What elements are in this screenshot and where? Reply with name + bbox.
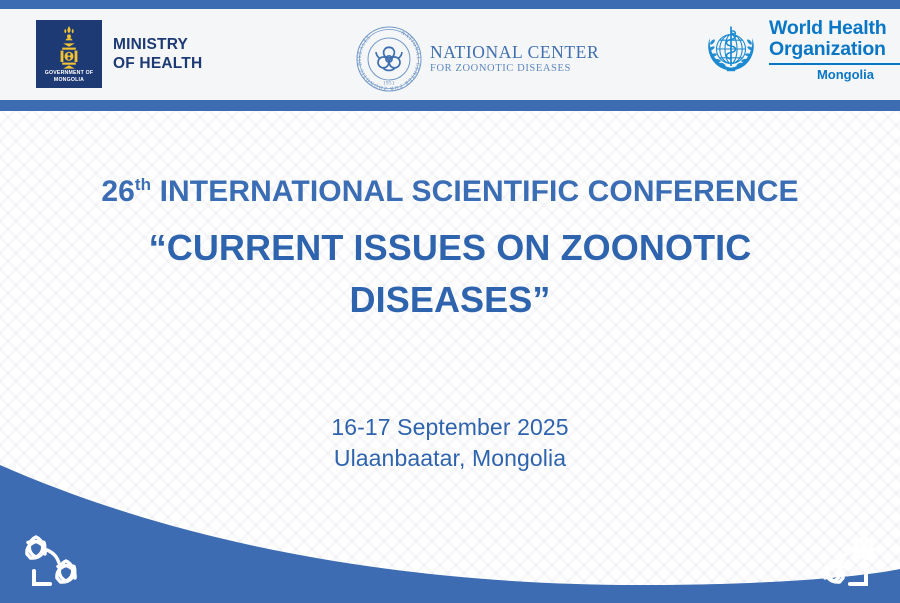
ministry-name: MINISTRY OF HEALTH — [113, 35, 202, 73]
edition-ordinal: th — [135, 175, 151, 194]
ministry-of-health-logo: GOVERNMENT OF MONGOLIA MINISTRY OF HEALT… — [36, 20, 202, 88]
ministry-name-line1: MINISTRY — [113, 35, 202, 54]
biohazard-seal-icon: NATIONAL CENTER FOR ZOONOTIC DISEASES 19… — [352, 22, 426, 96]
national-center-name: NATIONAL CENTER FOR ZOONOTIC DISEASES — [430, 42, 599, 76]
conference-theme-line1: “CURRENT ISSUES ON ZOONOTIC — [0, 222, 900, 274]
top-accent-bar — [0, 0, 900, 9]
ministry-name-line2: OF HEALTH — [113, 54, 202, 73]
conference-edition-line: 26th INTERNATIONAL SCIENTIFIC CONFERENCE — [0, 172, 900, 212]
national-center-name-line1: NATIONAL CENTER — [430, 42, 599, 62]
state-emblem-caption: GOVERNMENT OF MONGOLIA — [36, 70, 102, 84]
who-emblem-icon — [701, 20, 761, 80]
mongolian-ulzii-knot-left — [14, 527, 106, 595]
svg-text:1951: 1951 — [383, 82, 395, 87]
conference-theme: “CURRENT ISSUES ON ZOONOTIC DISEASES” — [0, 222, 900, 326]
mongolia-state-emblem: GOVERNMENT OF MONGOLIA — [36, 20, 102, 88]
event-date: 16-17 September 2025 — [0, 412, 900, 443]
who-country-label: Mongolia — [769, 67, 900, 83]
event-location: Ulaanbaatar, Mongolia — [0, 443, 900, 474]
conference-label: INTERNATIONAL SCIENTIFIC CONFERENCE — [151, 175, 799, 208]
who-name-line1: World Health — [769, 18, 900, 39]
edition-number: 26 — [101, 175, 135, 208]
who-rule — [769, 63, 900, 65]
national-center-logo: NATIONAL CENTER FOR ZOONOTIC DISEASES 19… — [352, 22, 599, 96]
band-divider-bar — [0, 100, 900, 111]
conference-theme-line2: DISEASES” — [0, 274, 900, 326]
mongolian-ulzii-knot-right — [794, 527, 886, 595]
soyombo-icon — [49, 24, 89, 70]
who-name: World Health Organization Mongolia — [769, 18, 900, 83]
conference-title-slide: GOVERNMENT OF MONGOLIA MINISTRY OF HEALT… — [0, 0, 900, 603]
national-center-name-line2: FOR ZOONOTIC DISEASES — [430, 62, 599, 76]
event-details: 16-17 September 2025 Ulaanbaatar, Mongol… — [0, 412, 900, 474]
page-title: 26th INTERNATIONAL SCIENTIFIC CONFERENCE… — [0, 172, 900, 326]
who-logo: World Health Organization Mongolia — [701, 18, 900, 83]
who-name-line2: Organization — [769, 39, 900, 60]
